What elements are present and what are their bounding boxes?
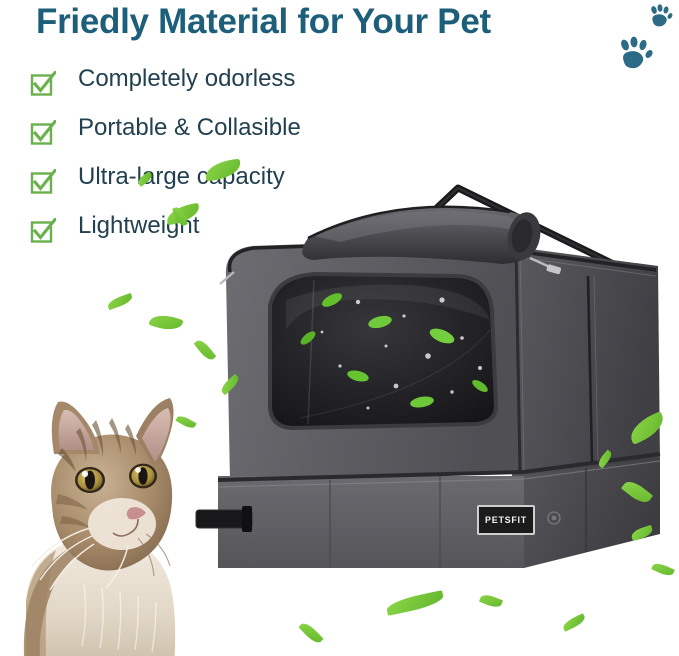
checkbox-checked-icon — [30, 120, 56, 146]
leaf-decoration — [106, 293, 134, 310]
leaf-decoration — [479, 592, 503, 610]
list-item-label: Portable & Collasible — [78, 114, 301, 142]
leaf-decoration — [561, 613, 587, 632]
brand-logo-patch: PETSFIT — [477, 505, 535, 535]
checkbox-checked-icon — [30, 71, 56, 97]
leaf-decoration — [148, 310, 183, 334]
product-marketing-image: Friedly Material for Your Pet Completely… — [0, 0, 679, 656]
paw-print-icon-small — [645, 4, 673, 30]
list-item-label: Completely odorless — [78, 65, 295, 93]
list-item: Completely odorless — [30, 62, 410, 111]
paw-print-icon-large — [614, 36, 654, 74]
page-title: Friedly Material for Your Pet — [36, 2, 491, 42]
list-item: Portable & Collasible — [30, 111, 410, 160]
checkbox-checked-icon — [30, 169, 56, 195]
vent-grommet-icon — [546, 510, 562, 526]
leaf-decoration — [385, 590, 445, 616]
checkbox-checked-icon — [30, 218, 56, 244]
pet-carrier-product-image — [190, 180, 670, 580]
brand-name: PETSFIT — [485, 515, 527, 525]
leaf-decoration — [298, 620, 323, 646]
